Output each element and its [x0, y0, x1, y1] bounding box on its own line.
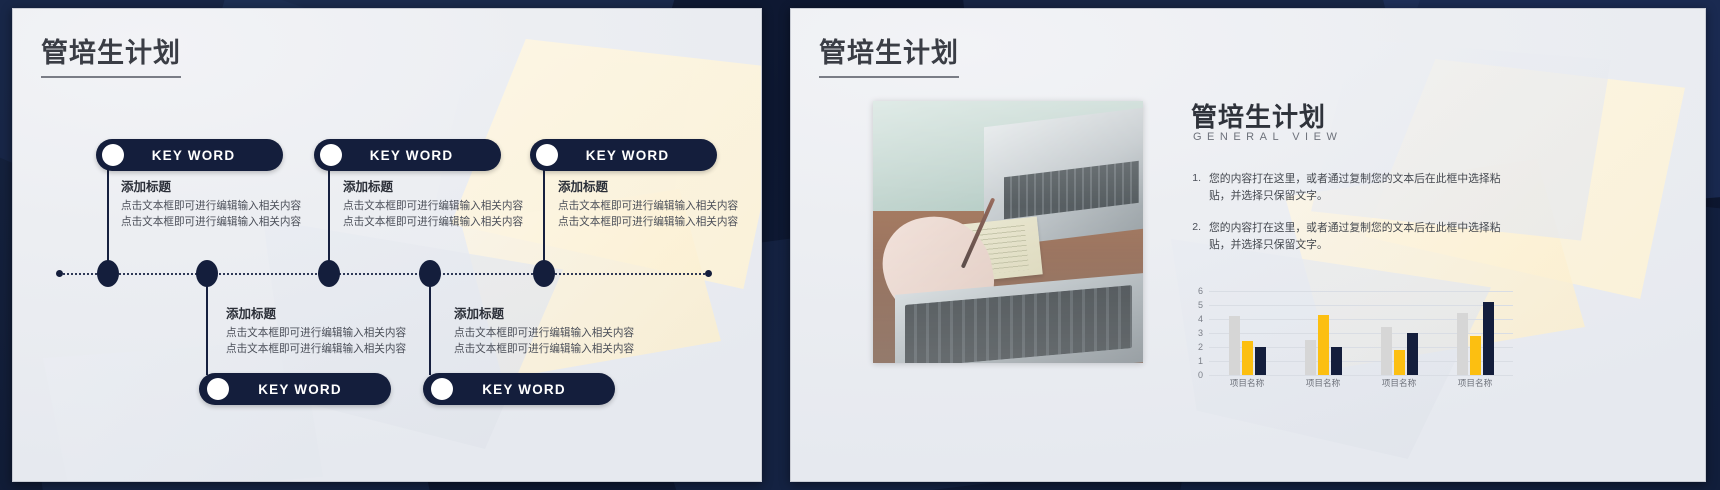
block-heading: 添加标题 [454, 303, 636, 322]
keyword-pill-5[interactable]: KEY WORD [423, 373, 615, 405]
keyword-pill-1[interactable]: KEY WORD [96, 139, 283, 171]
timeline-node[interactable] [533, 260, 555, 287]
list-item-number: 2. [1187, 220, 1201, 255]
chart-bar-groups [1209, 291, 1513, 375]
slide-right[interactable]: 管培生计划 管培生计划 GENERAL VIEW 1. 您的内容打在这里，或者通… [790, 8, 1706, 482]
chart-bar [1407, 333, 1418, 375]
chart-bar-group [1381, 291, 1418, 375]
photo-glass-overlay [873, 101, 1143, 363]
chart-x-labels: 项目名称项目名称项目名称项目名称 [1209, 377, 1513, 397]
timeline-node[interactable] [97, 260, 119, 287]
chart-bar-group [1305, 291, 1342, 375]
timeline-end-dot [705, 270, 712, 277]
text-block-4: 添加标题 点击文本框即可进行编辑输入相关内容点击文本框即可进行编辑输入相关内容 [226, 303, 408, 357]
list-item: 1. 您的内容打在这里，或者通过复制您的文本后在此框中选择粘贴，并选择只保留文字… [1187, 171, 1517, 206]
timeline-stem [543, 161, 545, 265]
keyword-pill-4[interactable]: KEY WORD [199, 373, 391, 405]
chart-x-label: 项目名称 [1230, 377, 1264, 389]
chart-x-label: 项目名称 [1458, 377, 1492, 389]
keyword-label: KEY WORD [453, 382, 615, 397]
list-item-number: 1. [1187, 171, 1201, 206]
workspace-photo [873, 101, 1143, 363]
pill-knob-icon [431, 378, 453, 400]
pill-knob-icon [320, 144, 342, 166]
keyword-label: KEY WORD [229, 382, 391, 397]
chart-y-tick: 6 [1187, 286, 1203, 296]
chart-y-tick: 3 [1187, 328, 1203, 338]
bar-chart: 6543210 项目名称项目名称项目名称项目名称 [1187, 285, 1517, 397]
chart-bar [1483, 302, 1494, 375]
block-body: 点击文本框即可进行编辑输入相关内容点击文本框即可进行编辑输入相关内容 [226, 325, 408, 357]
numbered-list: 1. 您的内容打在这里，或者通过复制您的文本后在此框中选择粘贴，并选择只保留文字… [1187, 171, 1517, 269]
timeline-node[interactable] [419, 260, 441, 287]
chart-plot-area [1209, 291, 1513, 375]
block-heading: 添加标题 [226, 303, 408, 322]
chart-bar [1318, 315, 1329, 375]
chart-bar [1381, 327, 1392, 375]
slide-left[interactable]: 管培生计划 KEY WORD KEY WORD KEY WORD 添加标题 点击… [12, 8, 762, 482]
chart-bar [1470, 336, 1481, 375]
slide-decor-polygon [43, 339, 323, 482]
chart-x-label: 项目名称 [1306, 377, 1340, 389]
keyword-label: KEY WORD [124, 148, 283, 163]
keyword-pill-3[interactable]: KEY WORD [530, 139, 717, 171]
block-body: 点击文本框即可进行编辑输入相关内容点击文本框即可进行编辑输入相关内容 [558, 198, 740, 230]
timeline-stem [107, 161, 109, 265]
timeline-node[interactable] [196, 260, 218, 287]
keyword-label: KEY WORD [342, 148, 501, 163]
list-item: 2. 您的内容打在这里，或者通过复制您的文本后在此框中选择粘贴，并选择只保留文字… [1187, 220, 1517, 255]
block-body: 点击文本框即可进行编辑输入相关内容点击文本框即可进行编辑输入相关内容 [121, 198, 303, 230]
pill-knob-icon [102, 144, 124, 166]
block-heading: 添加标题 [121, 176, 303, 195]
text-block-2: 添加标题 点击文本框即可进行编辑输入相关内容点击文本框即可进行编辑输入相关内容 [343, 176, 525, 230]
chart-y-tick: 5 [1187, 300, 1203, 310]
chart-bar [1305, 340, 1316, 375]
text-block-5: 添加标题 点击文本框即可进行编辑输入相关内容点击文本框即可进行编辑输入相关内容 [454, 303, 636, 357]
block-body: 点击文本框即可进行编辑输入相关内容点击文本框即可进行编辑输入相关内容 [454, 325, 636, 357]
section-subheading: GENERAL VIEW [1193, 131, 1342, 143]
timeline-dotted-line [59, 273, 709, 275]
keyword-label: KEY WORD [558, 148, 717, 163]
keyword-pill-2[interactable]: KEY WORD [314, 139, 501, 171]
section-heading: 管培生计划 [1191, 97, 1326, 134]
text-block-3: 添加标题 点击文本框即可进行编辑输入相关内容点击文本框即可进行编辑输入相关内容 [558, 176, 740, 230]
timeline-start-dot [56, 270, 63, 277]
chart-bar [1229, 316, 1240, 375]
chart-y-tick: 4 [1187, 314, 1203, 324]
page-title: 管培生计划 [819, 31, 959, 78]
block-body: 点击文本框即可进行编辑输入相关内容点击文本框即可进行编辑输入相关内容 [343, 198, 525, 230]
chart-bar [1457, 313, 1468, 375]
pill-knob-icon [207, 378, 229, 400]
page-title: 管培生计划 [41, 31, 181, 78]
chart-y-tick: 1 [1187, 356, 1203, 366]
timeline-node[interactable] [318, 260, 340, 287]
chart-bar [1255, 347, 1266, 375]
chart-bar-group [1229, 291, 1266, 375]
chart-y-tick: 2 [1187, 342, 1203, 352]
list-item-text: 您的内容打在这里，或者通过复制您的文本后在此框中选择粘贴，并选择只保留文字。 [1209, 171, 1517, 206]
timeline-stem [328, 161, 330, 265]
block-heading: 添加标题 [558, 176, 740, 195]
chart-bar [1331, 347, 1342, 375]
chart-bar [1242, 341, 1253, 375]
list-item-text: 您的内容打在这里，或者通过复制您的文本后在此框中选择粘贴，并选择只保留文字。 [1209, 220, 1517, 255]
text-block-1: 添加标题 点击文本框即可进行编辑输入相关内容点击文本框即可进行编辑输入相关内容 [121, 176, 303, 230]
chart-bar [1394, 350, 1405, 375]
block-heading: 添加标题 [343, 176, 525, 195]
chart-y-tick: 0 [1187, 370, 1203, 380]
chart-bar-group [1457, 291, 1494, 375]
pill-knob-icon [536, 144, 558, 166]
chart-gridline [1209, 375, 1513, 376]
chart-x-label: 项目名称 [1382, 377, 1416, 389]
